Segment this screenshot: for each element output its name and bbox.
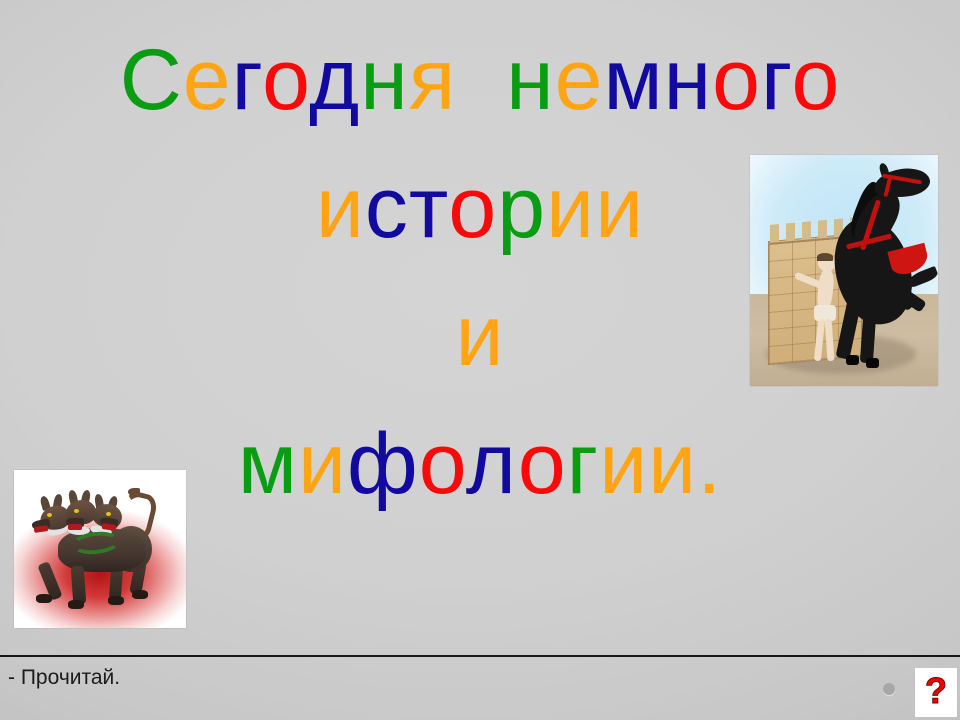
black-horse-illustration	[750, 155, 938, 386]
slide-navigation-dot[interactable]	[883, 683, 895, 695]
cerberus-mouth-center	[68, 524, 82, 530]
cerberus-paw-3	[108, 596, 124, 605]
presentation-slide: Сегодня немного истории и мифологии.	[0, 0, 960, 720]
footer-divider	[0, 655, 960, 657]
title-letter: С	[120, 32, 183, 128]
title-letter: .	[697, 416, 722, 512]
cerberus-paw-1	[36, 594, 52, 603]
cerberus-paw-2	[68, 600, 84, 609]
title-letter: о	[791, 32, 840, 128]
title-letter: о	[712, 32, 761, 128]
title-letter: е	[555, 32, 604, 128]
title-letter: н	[664, 32, 713, 128]
title-letter: и	[648, 416, 697, 512]
title-letter: д	[309, 32, 360, 128]
title-letter: о	[448, 160, 497, 256]
title-letter: о	[262, 32, 309, 128]
title-letter: ф	[347, 416, 419, 512]
title-letter: о	[518, 416, 567, 512]
cerberus-eye-right	[106, 512, 111, 516]
title-letter: и	[546, 160, 595, 256]
cerberus-paw-4	[132, 590, 148, 599]
figure-hair	[817, 253, 833, 261]
title-letter: и	[595, 160, 644, 256]
title-letter: с	[365, 160, 409, 256]
question-mark-icon: ?	[921, 673, 951, 713]
title-letter: и	[455, 288, 504, 384]
horse-hoof-right	[866, 358, 879, 368]
title-letter: и	[316, 160, 365, 256]
help-button[interactable]: ?	[915, 668, 957, 717]
footer-note: - Прочитай.	[8, 666, 120, 690]
title-letter: о	[419, 416, 466, 512]
title-letter: г	[761, 32, 791, 128]
title-letter: и	[298, 416, 347, 512]
cerberus-eye-left	[47, 513, 52, 517]
title-letter: м	[604, 32, 664, 128]
cerberus-eye-center	[74, 509, 79, 513]
title-letter: н	[360, 32, 409, 128]
title-line-1: Сегодня немного	[0, 16, 960, 144]
title-letter: л	[466, 416, 518, 512]
title-letter: н	[506, 32, 555, 128]
title-letter: е	[183, 32, 232, 128]
title-letter: г	[232, 32, 262, 128]
cerberus-illustration	[14, 470, 186, 628]
title-letter	[456, 32, 481, 128]
title-letter: я	[409, 32, 457, 128]
title-letter	[481, 32, 506, 128]
horse-hoof-left	[846, 355, 859, 365]
cerberus-snake-tail-head	[128, 488, 140, 496]
title-letter: м	[238, 416, 298, 512]
title-letter: р	[497, 160, 546, 256]
cerberus-leg-front-near	[71, 566, 87, 605]
title-letter: т	[409, 160, 448, 256]
title-letter: г	[567, 416, 599, 512]
title-letter: и	[599, 416, 648, 512]
svg-text:?: ?	[925, 673, 947, 711]
